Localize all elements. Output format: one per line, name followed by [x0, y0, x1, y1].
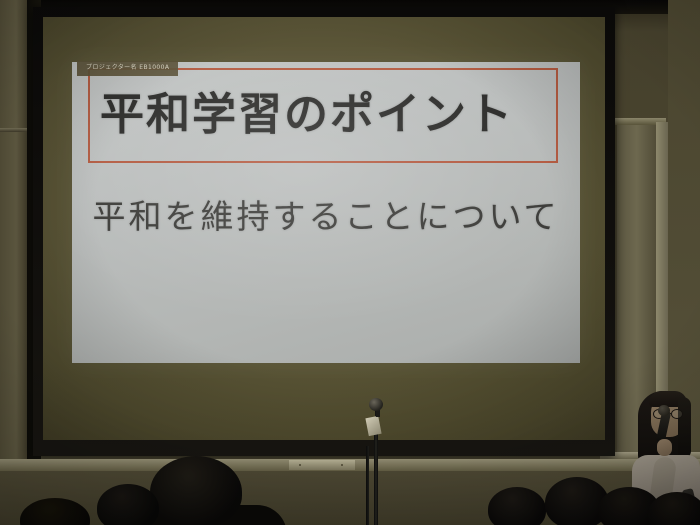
- microphone-stand-leg: [366, 446, 369, 525]
- ledge-plate-screw-left: [299, 464, 301, 466]
- left-panel-seam: [0, 128, 27, 132]
- audience-head: [97, 484, 159, 525]
- presenter-hair-side: [678, 397, 691, 459]
- microphone-stand-pole: [374, 428, 378, 525]
- audience-head: [488, 487, 546, 525]
- slide-subtitle: 平和を維持することについて: [72, 190, 580, 238]
- projector-osd-label: プロジェクター名 EB1000A: [77, 61, 178, 76]
- slide-title: 平和学習のポイント: [72, 62, 542, 157]
- left-wall-panel: [0, 0, 27, 525]
- lecture-hall-photo: 平和学習のポイント 平和を維持することについて プロジェクター名 EB1000A: [0, 0, 700, 525]
- audience-head: [150, 456, 242, 525]
- ledge-plate-screw-right: [341, 464, 343, 466]
- presentation-slide: 平和学習のポイント 平和を維持することについて プロジェクター名 EB1000A: [72, 62, 580, 363]
- microphone-head-icon: [369, 398, 383, 411]
- handheld-microphone-head-icon: [658, 405, 670, 416]
- presenter-hand: [657, 439, 672, 456]
- glasses-lens-right: [671, 409, 683, 419]
- ledge-plate: [289, 460, 355, 470]
